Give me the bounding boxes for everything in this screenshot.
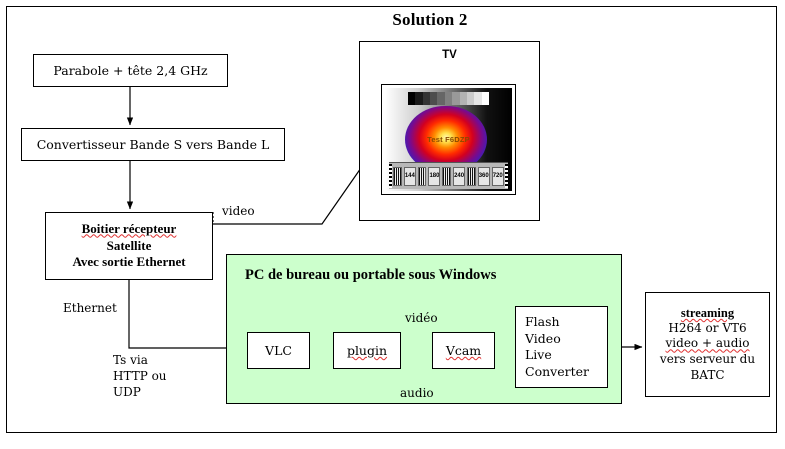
flash-line-3: Converter	[525, 364, 589, 381]
node-vcam-label: Vcam	[446, 343, 481, 358]
res-bars-0	[393, 167, 402, 186]
streaming-line-3: BATC	[690, 368, 724, 384]
test-pattern-text: Test F6DZP	[385, 135, 512, 144]
node-vlc: VLC	[247, 332, 310, 369]
page-title: Solution 2	[340, 10, 520, 30]
node-vcam: Vcam	[432, 332, 495, 369]
node-converter: Convertisseur Bande S vers Bande L	[21, 128, 285, 161]
edge-label-video-pc: vidéo	[405, 311, 438, 327]
res-bars-2	[442, 167, 451, 186]
edge-label-ts-via: Ts via HTTP ou UDP	[113, 353, 167, 400]
res-cell-180: 180	[428, 167, 440, 186]
streaming-line-2: vers serveur du	[660, 352, 755, 368]
edge-label-ethernet: Ethernet	[63, 301, 117, 317]
node-parabole: Parabole + tête 2,4 GHz	[33, 54, 228, 87]
strip-edge-left	[389, 164, 392, 188]
tv-test-pattern: Test F6DZP 144 180 240 360 720	[385, 88, 512, 191]
node-vlc-label: VLC	[265, 343, 292, 358]
edge-label-video-to-tv: video	[222, 204, 255, 220]
tv-label: TV	[442, 49, 457, 61]
res-cell-360: 360	[478, 167, 490, 186]
res-cell-240: 240	[453, 167, 465, 186]
streaming-heading: streaming	[681, 306, 734, 321]
flash-line-2: Live	[525, 347, 589, 364]
receiver-line-1: Boitier récepteur	[82, 221, 177, 238]
flash-line-0: Flash	[525, 314, 589, 331]
strip-edge-right	[505, 164, 508, 188]
resolution-strip: 144 180 240 360 720	[389, 162, 508, 189]
tv-screen: Test F6DZP 144 180 240 360 720	[381, 84, 516, 195]
res-bars-3	[467, 167, 476, 186]
flash-converter-lines: Flash Video Live Converter	[516, 314, 589, 380]
receiver-line-3: Avec sortie Ethernet	[72, 254, 185, 271]
streaming-line-1: video + audio	[666, 336, 750, 352]
res-cell-720: 720	[492, 167, 504, 186]
diagram-canvas: Solution 2 Parabole + tête 2,4 GHz	[0, 0, 785, 449]
greyscale-step-bar	[408, 92, 489, 105]
node-streaming: streaming H264 or VT6 video + audio vers…	[645, 292, 770, 397]
res-bars-1	[418, 167, 427, 186]
node-parabole-label: Parabole + tête 2,4 GHz	[53, 63, 207, 78]
node-satellite-receiver: Boitier récepteur Satellite Avec sortie …	[45, 212, 213, 280]
flash-line-1: Video	[525, 331, 589, 348]
res-cell-144: 144	[404, 167, 416, 186]
node-plugin: plugin	[333, 332, 401, 369]
receiver-line-2: Satellite	[107, 238, 152, 255]
edge-label-audio: audio	[400, 386, 434, 402]
node-flash-video-live-converter: Flash Video Live Converter	[515, 306, 608, 388]
node-plugin-label: plugin	[347, 343, 387, 358]
streaming-line-0: H264 or VT6	[668, 321, 746, 337]
pc-container-title: PC de bureau ou portable sous Windows	[245, 267, 496, 284]
node-converter-label: Convertisseur Bande S vers Bande L	[37, 137, 270, 152]
